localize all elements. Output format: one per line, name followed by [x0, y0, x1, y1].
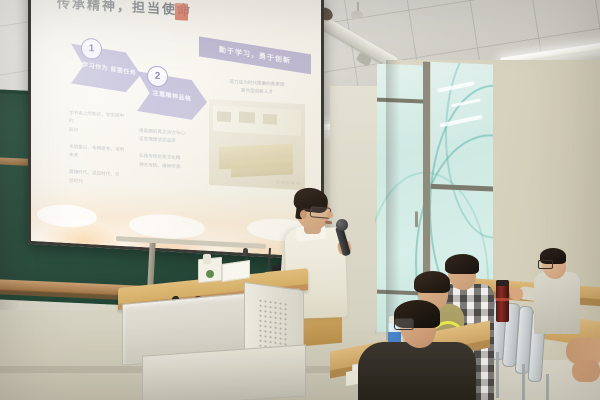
slide-step-number-1: 1 — [81, 38, 102, 60]
thermos-band — [496, 298, 509, 301]
thermos-cap — [496, 280, 509, 286]
audience-person-glasses — [538, 260, 553, 269]
slide-text-column-2: 用真期的真正活力与心 坚定理想信念追求 弘扬传统优秀文化精 神古传统、精神传承 — [139, 127, 195, 173]
audience-person-gray-tee — [534, 272, 580, 334]
podium-speaker-grille — [258, 298, 288, 350]
slide-text-column-1: 学书本上的知识，学实践中的 知识 韦明意识、韦明思考、韦明 未来 跟随时代、适应… — [69, 109, 125, 188]
chair-leg — [496, 352, 499, 398]
slide-step-number-2: 2 — [147, 65, 168, 87]
cloud-shape — [37, 203, 97, 228]
inset-photo-frame — [239, 112, 255, 124]
audience-person-dark-jacket — [358, 342, 476, 400]
foreground-hand — [572, 360, 600, 382]
speaker-ear — [300, 210, 307, 219]
projection-screen: 传承精神，担当使命 把学习作为 首要任务 1 注重精神品格 2 勤于学习，勇于创… — [28, 0, 324, 260]
photograph-scene: 传承精神，担当使命 把学习作为 首要任务 1 注重精神品格 2 勤于学习，勇于创… — [0, 0, 600, 400]
audience-person-hand — [510, 288, 523, 300]
inset-photo-table — [231, 158, 293, 177]
chair-leg — [522, 364, 525, 400]
thermos-bottle — [496, 282, 509, 322]
inset-photo-frame — [263, 114, 277, 125]
inset-photo-frame — [217, 111, 231, 122]
podium-item-green-cap — [206, 270, 214, 278]
audience-person-hair — [414, 271, 450, 293]
podium-item-bottle — [203, 254, 211, 264]
flag-icon — [175, 3, 188, 21]
chair-leg — [546, 374, 549, 400]
audience-person-hair — [445, 254, 479, 274]
projector-mount-hub — [351, 11, 363, 19]
lectern-knob — [243, 248, 248, 255]
audience-person-glasses — [394, 318, 414, 330]
slide-inset-photo: 实验室基地 — [209, 99, 305, 190]
door-handle — [415, 211, 418, 227]
inset-photo-caption: 实验室基地 — [276, 180, 301, 187]
